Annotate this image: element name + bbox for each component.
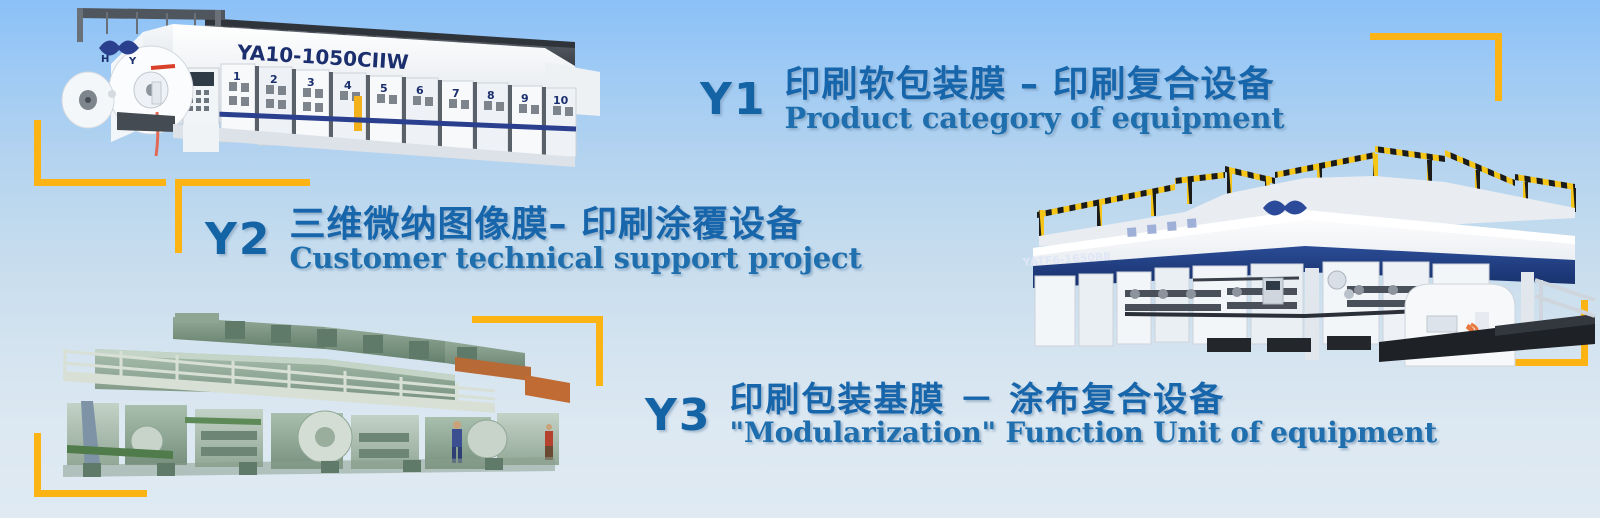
svg-text:H: H xyxy=(101,54,109,65)
svg-text:8: 8 xyxy=(487,89,495,102)
svg-text:3: 3 xyxy=(307,76,315,89)
entry-title-cn-y2: 三维微纳图像膜– 印刷涂覆设备 xyxy=(289,206,861,245)
entry-code-y3: Y3 xyxy=(645,394,711,438)
entry-row-y1: Y1 印刷软包装膜 – 印刷复合设备 Product category of e… xyxy=(700,66,1284,133)
svg-text:9: 9 xyxy=(521,92,529,105)
svg-text:4: 4 xyxy=(344,79,352,92)
svg-text:6: 6 xyxy=(416,84,424,97)
svg-text:7: 7 xyxy=(452,87,460,100)
entry-title-cn-y3: 印刷包装基膜 － 涂布复合设备 xyxy=(729,382,1437,419)
svg-text:Y: Y xyxy=(128,56,137,67)
bracket-topleft-horizontal xyxy=(34,179,166,186)
product-category-banner: H Y 123 456 789 10 YA10-1050CIIW xyxy=(0,0,1600,518)
entry-row-y3: Y3 印刷包装基膜 － 涂布复合设备 "Modularization" Func… xyxy=(645,382,1437,447)
entry-title-en-y2: Customer technical support project xyxy=(289,243,861,273)
entry-title-cn-y1: 印刷软包装膜 – 印刷复合设备 xyxy=(784,66,1284,105)
entry-code-y1: Y1 xyxy=(700,78,766,122)
machine-photo-coating-laminator: YATF6-1650BⅡ xyxy=(975,148,1595,363)
entry-code-y2: Y2 xyxy=(205,218,271,262)
bracket-topleft-vertical xyxy=(34,120,41,186)
entry-title-en-y3: "Modularization" Function Unit of equipm… xyxy=(729,418,1437,447)
bracket-topright-horizontal xyxy=(1370,33,1502,40)
entry-row-y2: Y2 三维微纳图像膜– 印刷涂覆设备 Customer technical su… xyxy=(205,206,862,273)
svg-text:5: 5 xyxy=(380,82,388,95)
bracket-y2-vertical xyxy=(175,179,182,253)
bracket-y2-horizontal xyxy=(175,179,310,186)
machine-photo-base-film-line xyxy=(25,305,570,480)
bracket-topright-vertical xyxy=(1495,33,1502,101)
svg-text:10: 10 xyxy=(553,94,569,107)
bracket-bottomleft-horizontal xyxy=(34,490,147,497)
svg-text:2: 2 xyxy=(270,73,278,86)
machine-photo-printing-press: H Y 123 456 789 10 YA10-1050CIIW xyxy=(55,4,600,179)
bracket-y3-vertical xyxy=(596,316,603,386)
svg-text:1: 1 xyxy=(233,70,241,83)
entry-title-en-y1: Product category of equipment xyxy=(784,103,1284,133)
